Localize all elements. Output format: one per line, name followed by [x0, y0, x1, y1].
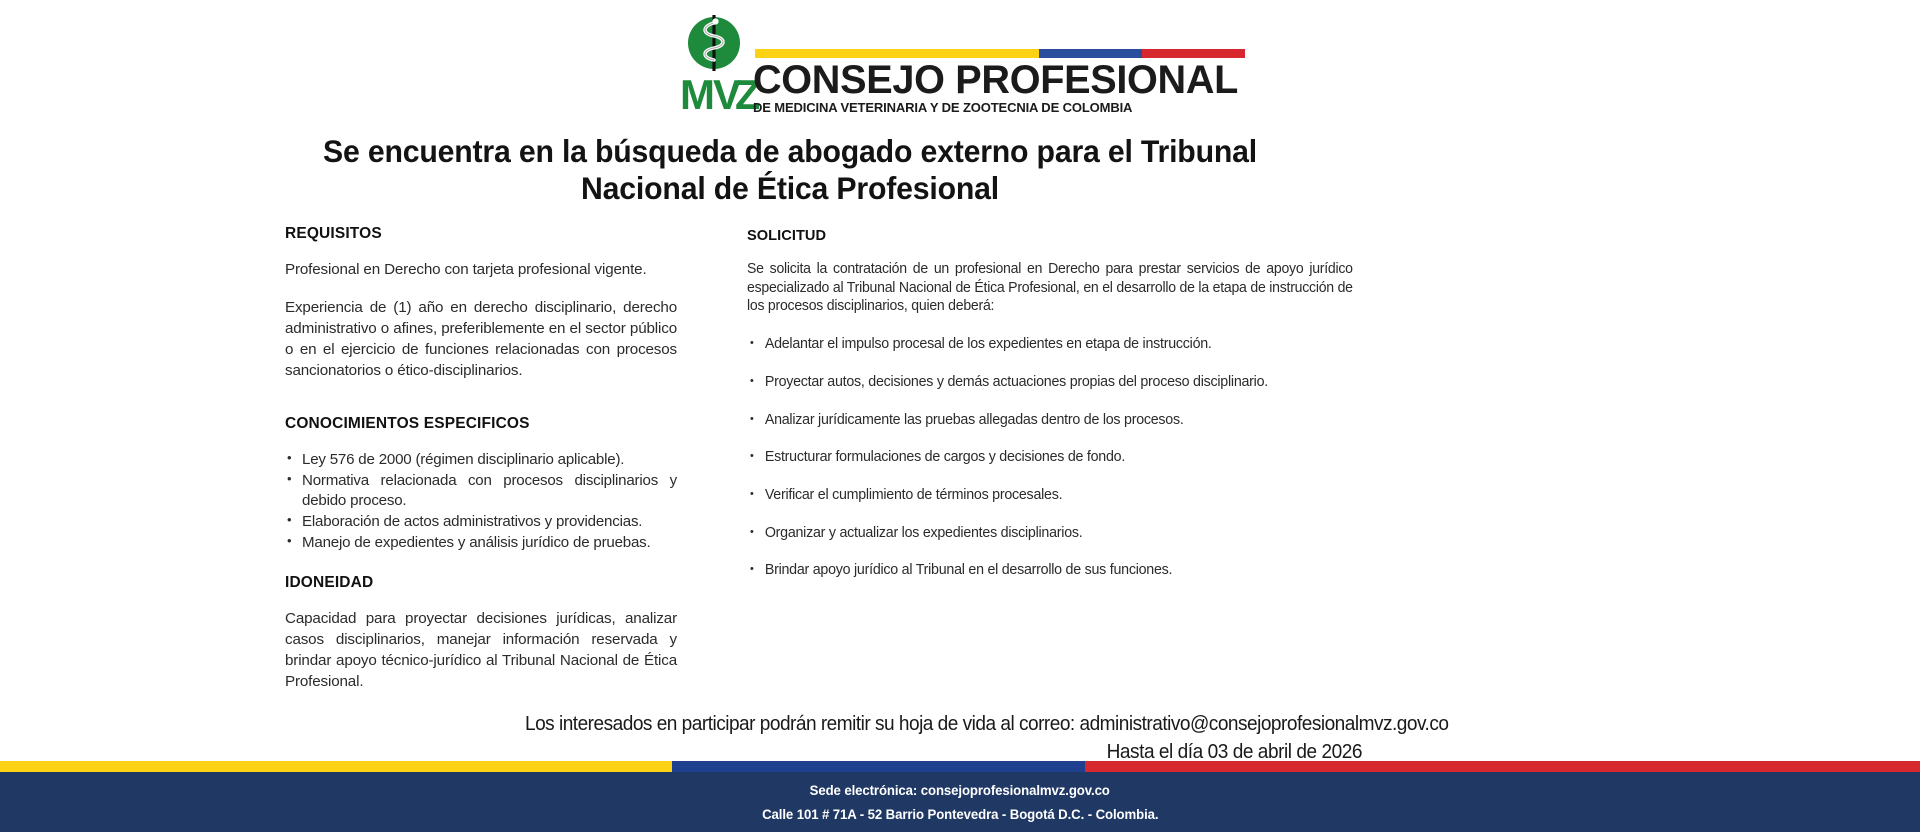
organization-logo: M V Z CONSEJO PROFESIONAL DE MEDICINA VE…	[677, 9, 1243, 117]
spacer	[285, 553, 677, 574]
logo-subtitle: DE MEDICINA VETERINARIA Y DE ZOOTECNIA D…	[753, 101, 1240, 115]
list-item: Proyectar autos, decisiones y demás actu…	[747, 373, 1356, 392]
poster-canvas: M V Z CONSEJO PROFESIONAL DE MEDICINA VE…	[0, 0, 1920, 832]
footer-address: Calle 101 # 71A - 52 Barrio Pontevedra -…	[762, 807, 1158, 822]
requisitos-paragraph-2: Experiencia de (1) año en derecho discip…	[285, 298, 677, 382]
flag-stripe-blue	[1039, 49, 1142, 58]
flag-stripe-yellow	[755, 49, 1039, 58]
section-heading-requisitos: REQUISITOS	[285, 225, 677, 243]
list-item: Estructurar formulaciones de cargos y de…	[747, 448, 1356, 467]
right-column: SOLICITUD Se solicita la contratación de…	[747, 228, 1362, 599]
list-item: Ley 576 de 2000 (régimen disciplinario a…	[285, 450, 677, 470]
section-heading-conocimientos: CONOCIMIENTOS ESPECIFICOS	[285, 415, 677, 433]
solicitud-intro-paragraph: Se solicita la contratación de un profes…	[747, 260, 1353, 316]
page-title: Se encuentra en la búsqueda de abogado e…	[305, 133, 1275, 207]
list-item: Verificar el cumplimiento de términos pr…	[747, 486, 1356, 505]
section-heading-solicitud: SOLICITUD	[747, 228, 1362, 244]
contact-email-line: Los interesados en participar podrán rem…	[525, 712, 1362, 736]
left-column: REQUISITOS Profesional en Derecho con ta…	[285, 225, 677, 693]
flag-stripe-red	[1142, 49, 1245, 58]
list-item: Organizar y actualizar los expedientes d…	[747, 524, 1356, 543]
logo-flag-bar	[755, 49, 1245, 58]
bar-segment-red	[1085, 761, 1920, 772]
svg-text:M: M	[680, 71, 713, 117]
spacer	[285, 399, 677, 415]
list-item: Adelantar el impulso procesal de los exp…	[747, 335, 1356, 354]
contact-block: Los interesados en participar podrán rem…	[462, 712, 1362, 765]
bar-segment-yellow	[0, 761, 672, 772]
mvz-caduceus-icon: M V Z	[677, 9, 759, 117]
list-item: Brindar apoyo jurídico al Tribunal en el…	[747, 561, 1356, 580]
logo-header: M V Z CONSEJO PROFESIONAL DE MEDICINA VE…	[0, 8, 1920, 118]
solicitud-list: Adelantar el impulso procesal de los exp…	[747, 335, 1362, 580]
tricolor-bar-top	[0, 761, 1920, 772]
logo-wordmark: CONSEJO PROFESIONAL DE MEDICINA VETERINA…	[753, 49, 1243, 117]
list-item: Normativa relacionada con procesos disci…	[285, 471, 677, 511]
footer-website: Sede electrónica: consejoprofesionalmvz.…	[810, 783, 1110, 798]
logo-title: CONSEJO PROFESIONAL	[753, 61, 1238, 99]
conocimientos-list: Ley 576 de 2000 (régimen disciplinario a…	[285, 450, 677, 553]
idoneidad-paragraph-1: Capacidad para proyectar decisiones jurí…	[285, 609, 677, 693]
bar-segment-blue	[672, 761, 1085, 772]
page-footer: Sede electrónica: consejoprofesionalmvz.…	[0, 772, 1920, 832]
requisitos-paragraph-1: Profesional en Derecho con tarjeta profe…	[285, 260, 677, 281]
section-heading-idoneidad: IDONEIDAD	[285, 574, 677, 592]
list-item: Analizar jurídicamente las pruebas alleg…	[747, 411, 1356, 430]
list-item: Elaboración de actos administrativos y p…	[285, 512, 677, 532]
list-item: Manejo de expedientes y análisis jurídic…	[285, 533, 677, 553]
